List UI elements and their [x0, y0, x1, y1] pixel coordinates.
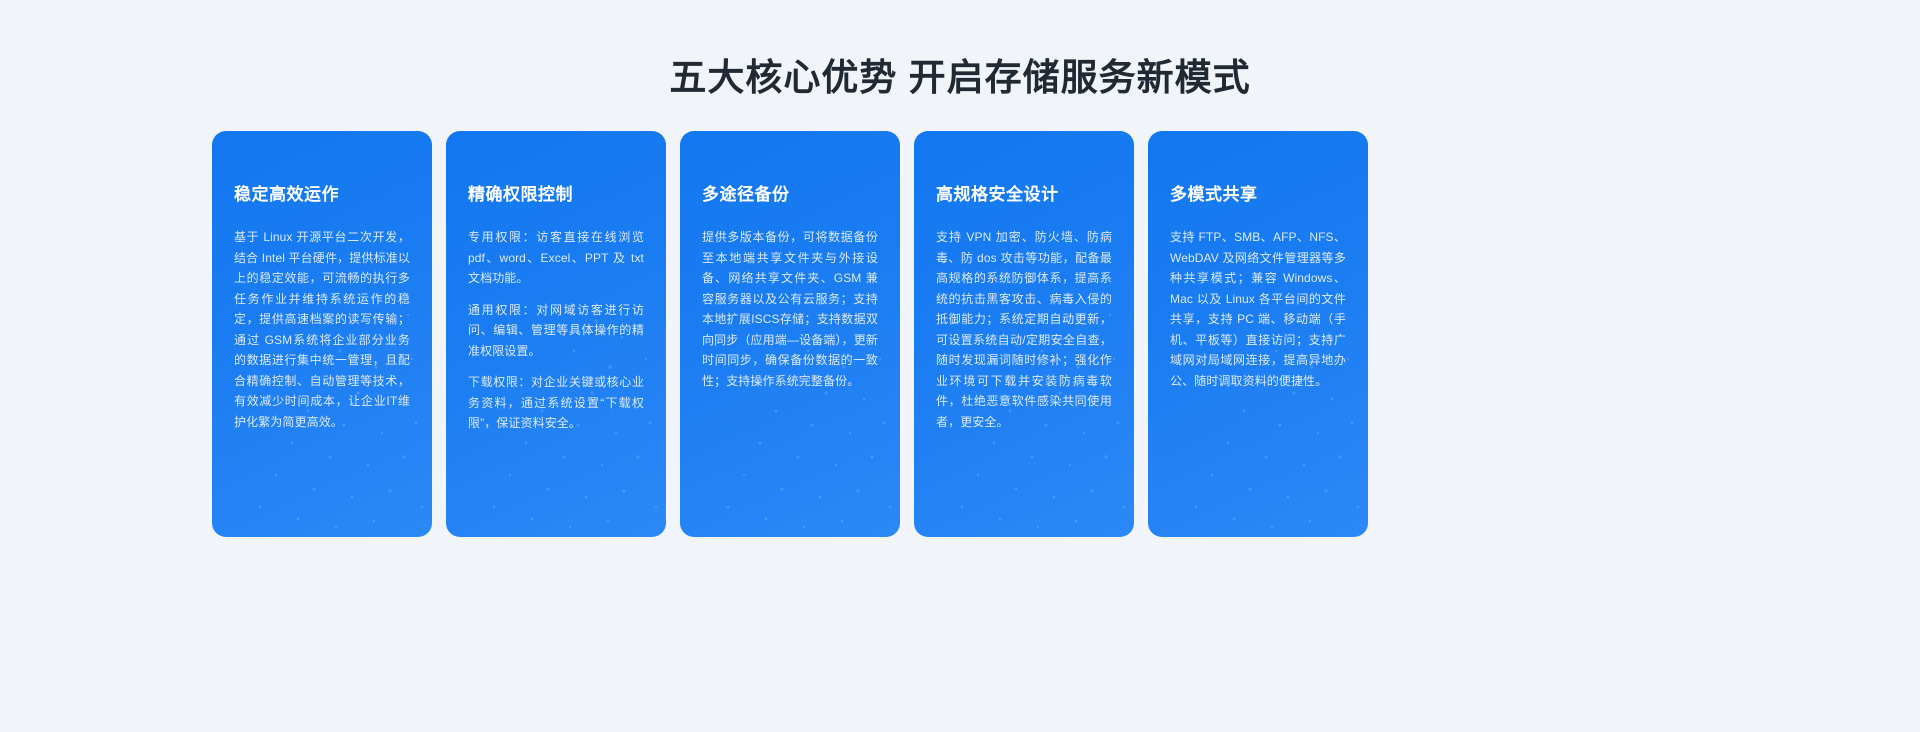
card-body: 支持 VPN 加密、防火墙、防病毒、防 dos 攻击等功能，配备最高规格的系统防… [936, 227, 1112, 432]
feature-card-security-design[interactable]: 高规格安全设计 支持 VPN 加密、防火墙、防病毒、防 dos 攻击等功能，配备… [914, 131, 1134, 537]
card-paragraph: 支持 VPN 加密、防火墙、防病毒、防 dos 攻击等功能，配备最高规格的系统防… [936, 227, 1112, 432]
feature-card-rail: 稳定高效运作 基于 Linux 开源平台二次开发，结合 Intel 平台硬件，提… [212, 131, 1708, 537]
card-paragraph: 基于 Linux 开源平台二次开发，结合 Intel 平台硬件，提供标准以上的稳… [234, 227, 410, 432]
card-paragraph: 通用权限：对网域访客进行访问、编辑、管理等具体操作的精准权限设置。 [468, 300, 644, 362]
card-title: 高规格安全设计 [936, 183, 1112, 207]
card-paragraph: 专用权限：访客直接在线浏览 pdf、word、Excel、PPT 及 txt 文… [468, 227, 644, 289]
feature-card-multi-mode-sharing[interactable]: 多模式共享 支持 FTP、SMB、AFP、NFS、WebDAV 及网络文件管理器… [1148, 131, 1368, 537]
feature-card-stable-operation[interactable]: 稳定高效运作 基于 Linux 开源平台二次开发，结合 Intel 平台硬件，提… [212, 131, 432, 537]
card-title: 多途径备份 [702, 183, 878, 207]
card-paragraph: 支持 FTP、SMB、AFP、NFS、WebDAV 及网络文件管理器等多种共享模… [1170, 227, 1346, 391]
card-body: 基于 Linux 开源平台二次开发，结合 Intel 平台硬件，提供标准以上的稳… [234, 227, 410, 432]
page-root: 五大核心优势 开启存储服务新模式 [0, 0, 1920, 732]
card-title: 稳定高效运作 [234, 183, 410, 207]
card-body: 专用权限：访客直接在线浏览 pdf、word、Excel、PPT 及 txt 文… [468, 227, 644, 434]
card-paragraph: 提供多版本备份，可将数据备份至本地端共享文件夹与外接设备、网络共享文件夹、GSM… [702, 227, 878, 391]
card-paragraph: 下载权限：对企业关键或核心业务资料，通过系统设置“下载权限”，保证资料安全。 [468, 372, 644, 434]
card-body: 支持 FTP、SMB、AFP、NFS、WebDAV 及网络文件管理器等多种共享模… [1170, 227, 1346, 391]
feature-card-permission-control[interactable]: 精确权限控制 专用权限：访客直接在线浏览 pdf、word、Excel、PPT … [446, 131, 666, 537]
feature-card-multi-path-backup[interactable]: 多途径备份 提供多版本备份，可将数据备份至本地端共享文件夹与外接设备、网络共享文… [680, 131, 900, 537]
card-body: 提供多版本备份，可将数据备份至本地端共享文件夹与外接设备、网络共享文件夹、GSM… [702, 227, 878, 391]
card-title: 精确权限控制 [468, 183, 644, 207]
page-title: 五大核心优势 开启存储服务新模式 [0, 52, 1920, 104]
card-title: 多模式共享 [1170, 183, 1346, 207]
